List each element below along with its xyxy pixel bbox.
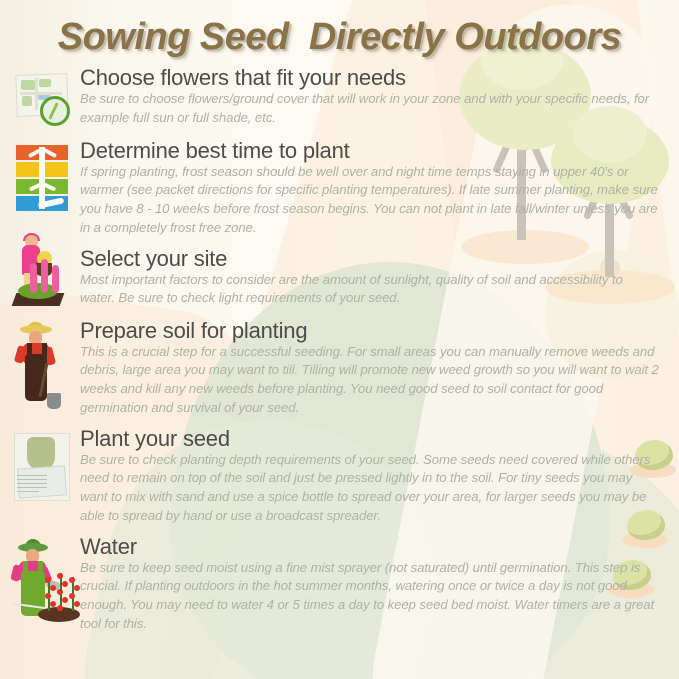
packet-text-line	[17, 491, 39, 492]
step-body: If spring planting, frost season should …	[80, 163, 659, 238]
shovel-blade	[47, 393, 61, 409]
step-text-cell: Determine best time to plant If spring p…	[80, 139, 679, 238]
list-item: Choose flowers that fit your needs Be su…	[0, 66, 679, 128]
plan-plot	[39, 79, 51, 87]
compass-icon	[40, 96, 70, 126]
step-title: Select your site	[80, 247, 659, 270]
step-icon-cell	[0, 535, 80, 623]
red-bloom	[57, 573, 63, 579]
overall-strap	[27, 343, 32, 357]
step-body: This is a crucial step for a successful …	[80, 343, 659, 418]
packet-text-line	[17, 479, 47, 480]
step-icon-cell	[0, 247, 80, 309]
list-item: Determine best time to plant If spring p…	[0, 139, 679, 238]
packet-text-line	[17, 487, 47, 488]
red-bloom	[74, 601, 80, 607]
step-icon-cell	[0, 427, 80, 501]
gardener-with-shovel-icon	[14, 323, 66, 409]
red-bloom	[69, 577, 75, 583]
four-seasons-icon	[16, 145, 68, 211]
red-bloom	[45, 593, 51, 599]
compass-needle	[48, 102, 58, 120]
step-title: Choose flowers that fit your needs	[80, 66, 659, 89]
red-bloom	[69, 593, 75, 599]
step-body: Be sure to check planting depth requirem…	[80, 451, 659, 526]
page-title: Sowing Seed Directly Outdoors	[0, 16, 679, 59]
list-item: Select your site Most important factors …	[0, 247, 679, 309]
pink-flower-spike	[41, 259, 48, 293]
step-title: Water	[80, 535, 659, 558]
pink-flower-spike	[30, 263, 37, 293]
step-icon-cell	[0, 319, 80, 409]
step-body: Be sure to keep seed moist using a fine …	[80, 559, 659, 634]
step-text-cell: Select your site Most important factors …	[80, 247, 679, 309]
overall-strap	[23, 561, 28, 574]
step-text-cell: Plant your seed Be sure to check plantin…	[80, 427, 679, 526]
list-item: Water Be sure to keep seed moist using a…	[0, 535, 679, 634]
red-bloom	[62, 597, 68, 603]
seasons-tree-trunk	[39, 147, 45, 209]
garden-plan-compass-icon	[14, 72, 70, 122]
step-title: Prepare soil for planting	[80, 319, 659, 342]
step-text-cell: Prepare soil for planting This is a cruc…	[80, 319, 679, 418]
step-title: Determine best time to plant	[80, 139, 659, 162]
gardener-overalls	[21, 571, 45, 616]
packet-text-line	[17, 475, 47, 476]
seed-packet-icon	[14, 433, 68, 501]
steps-list: Choose flowers that fit your needs Be su…	[0, 62, 679, 634]
seed-packet-envelope	[17, 465, 67, 498]
plan-path	[20, 92, 62, 95]
step-body: Be sure to choose flowers/ground cover t…	[80, 90, 659, 127]
overall-strap	[38, 561, 43, 574]
red-bloom	[62, 581, 68, 587]
step-text-cell: Water Be sure to keep seed moist using a…	[80, 535, 679, 634]
step-title: Plant your seed	[80, 427, 659, 450]
step-icon-cell	[0, 66, 80, 122]
step-icon-cell	[0, 139, 80, 211]
list-item: Prepare soil for planting This is a cruc…	[0, 319, 679, 418]
red-bloom	[74, 585, 80, 591]
potted-flowers-gardener-icon	[10, 233, 68, 309]
red-bloom	[50, 585, 56, 591]
step-text-cell: Choose flowers that fit your needs Be su…	[80, 66, 679, 128]
red-bloom	[57, 605, 63, 611]
red-bloom	[57, 589, 63, 595]
overall-strap	[42, 343, 47, 357]
list-item: Plant your seed Be sure to check plantin…	[0, 427, 679, 526]
packet-text-line	[17, 483, 47, 484]
gardener-watering-icon	[10, 541, 82, 623]
red-bloom	[50, 601, 56, 607]
infographic-poster: Sowing Seed Directly Outdoors	[0, 0, 679, 679]
pink-flower-spike	[52, 265, 59, 293]
step-body: Most important factors to consider are t…	[80, 271, 659, 308]
plan-plot	[21, 80, 35, 90]
plan-plot	[22, 96, 32, 106]
plan-path	[35, 78, 38, 110]
red-bloom	[45, 577, 51, 583]
